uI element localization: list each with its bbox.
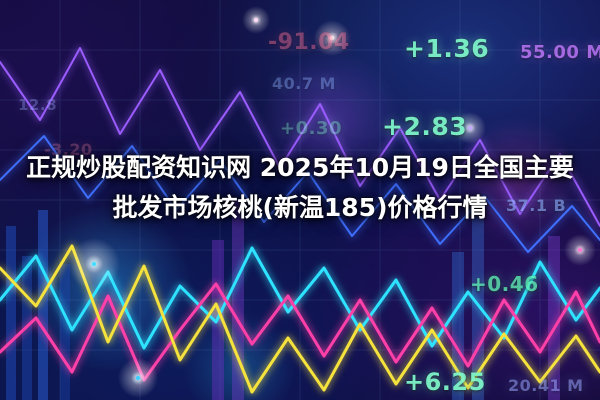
sparkle-core — [578, 248, 582, 252]
page-title: 正规炒股配资知识网 2025年10月19日全国主要 批发市场核桃(新温185)价… — [0, 148, 600, 228]
sparkle-core — [136, 376, 140, 380]
ticker-value: +6.25 — [404, 368, 486, 396]
ticker-value: 55.00 M — [520, 42, 600, 63]
promo-banner-image: +1.36+2.8355.00 M37.1 B+0.46+6.2520.41 M… — [0, 0, 600, 400]
bar-column — [60, 264, 70, 400]
sparkle-core — [92, 262, 96, 266]
ticker-value: +2.83 — [382, 112, 467, 141]
ticker-value: 12.8 — [18, 96, 57, 114]
ticker-value: -91.04 — [268, 30, 350, 55]
ticker-value: +0.46 — [470, 272, 539, 296]
bar-column — [38, 210, 48, 400]
ticker-value: 40.7 M — [272, 74, 336, 93]
ticker-value: +1.36 — [404, 34, 489, 63]
page-title-line-1: 正规炒股配资知识网 2025年10月19日全国主要 — [14, 148, 586, 188]
page-title-line-2: 批发市场核桃(新温185)价格行情 — [14, 188, 586, 228]
ticker-value: 20.41 M — [508, 376, 584, 395]
bar-column — [6, 226, 16, 400]
sparkle-core — [254, 18, 258, 22]
sparkle-core — [468, 126, 472, 130]
ticker-value: +0.30 — [280, 118, 342, 139]
